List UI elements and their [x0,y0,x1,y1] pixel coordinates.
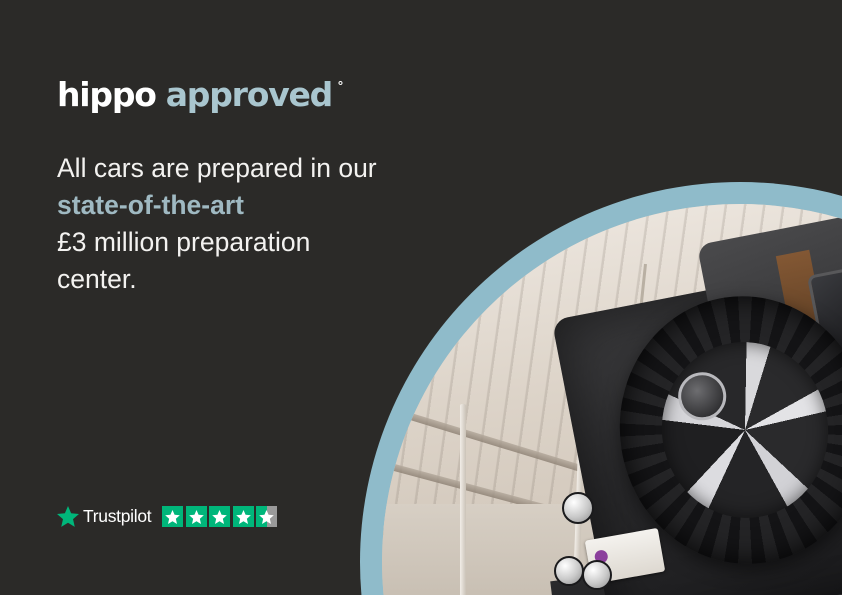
registered-mark-icon: ° [338,79,343,92]
workshop-photo-circle [360,182,842,595]
logo-wordmark-approved: approved [166,78,332,111]
headline-line-2-accent: state-of-the-art [57,187,397,224]
rear-lamp [562,492,594,524]
workshop-photo [382,204,842,595]
headline-line-3: £3 million preparation [57,224,397,261]
headline-line-4: center. [57,261,397,298]
trustpilot-wordmark: Trustpilot [83,508,151,526]
star-icon [259,510,274,524]
star-icon [236,510,251,524]
alloy-rim [649,330,840,530]
support-pole [460,404,466,595]
logo-wordmark-hippo: hippo [57,78,156,111]
headline-line-1: All cars are prepared in our [57,150,397,187]
star-icon [189,510,204,524]
trustpilot-star-icon [57,506,79,527]
trustpilot-badge[interactable]: Trustpilot [57,506,277,527]
rear-lamp [554,556,584,586]
trustpilot-brand: Trustpilot [57,506,151,527]
rating-star-1 [162,506,183,527]
rating-star-5-half [256,506,277,527]
rating-star-4 [233,506,254,527]
headline: All cars are prepared in our state-of-th… [57,150,397,298]
star-icon [165,510,180,524]
trustpilot-rating-stars [162,506,277,527]
hippo-approved-logo: hippo ° approved [57,78,332,111]
rating-star-3 [209,506,230,527]
star-icon [212,510,227,524]
rear-lamp [582,560,612,590]
promo-banner: hippo ° approved All cars are prepared i… [0,0,842,595]
content-column: hippo ° approved All cars are prepared i… [0,0,420,595]
workshop-scene [382,204,842,595]
rating-star-2 [186,506,207,527]
